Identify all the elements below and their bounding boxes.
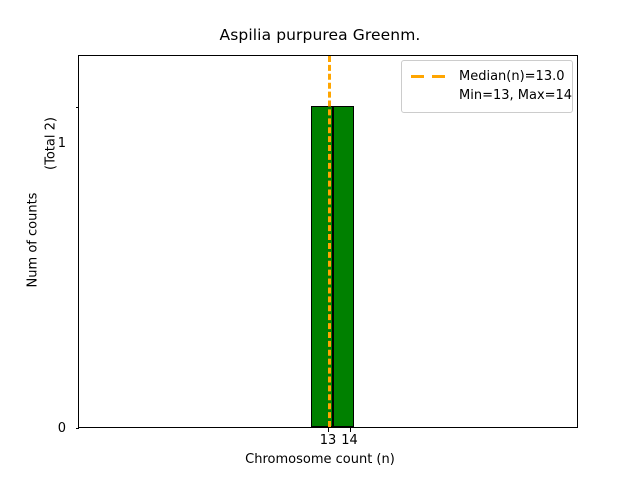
legend-row-range: Min=13, Max=14 <box>410 86 564 105</box>
x-tick-mark-14 <box>350 428 351 432</box>
dashed-line-icon <box>410 72 450 82</box>
histogram-bar-14 <box>333 106 355 427</box>
median-line <box>328 56 331 427</box>
x-tick-label-13: 13 <box>320 433 337 448</box>
y-axis-label: Num of counts <box>26 193 41 288</box>
y-tick-mark-1 <box>76 107 80 108</box>
y-tick-mark-0 <box>76 428 80 429</box>
y-axis-total-container: (Total 2) <box>40 0 62 480</box>
legend-label-range: Min=13, Max=14 <box>459 88 572 103</box>
x-tick-label-14: 14 <box>341 433 358 448</box>
legend-label-median: Median(n)=13.0 <box>459 69 565 84</box>
chart-title: Aspilia purpurea Greenm. <box>0 26 640 44</box>
chart-legend: Median(n)=13.0 Min=13, Max=14 <box>401 60 573 113</box>
y-tick-label-1: 1 <box>44 136 66 151</box>
y-tick-label-0: 0 <box>44 421 66 436</box>
chart-figure: Aspilia purpurea Greenm. Num of counts (… <box>0 0 640 480</box>
x-axis-label: Chromosome count (n) <box>0 452 640 467</box>
x-tick-mark-13 <box>328 428 329 432</box>
legend-row-median: Median(n)=13.0 <box>410 67 564 86</box>
